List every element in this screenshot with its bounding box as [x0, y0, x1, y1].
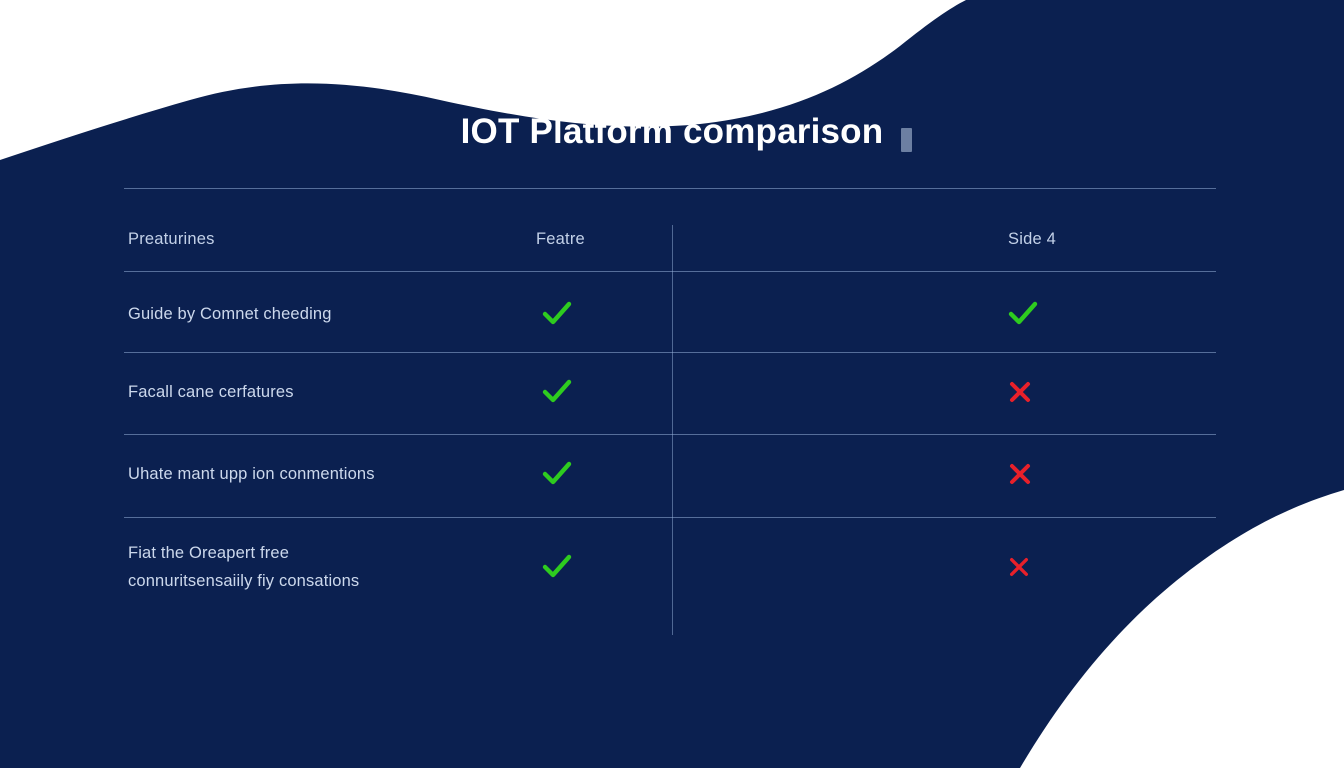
row-cell-col2	[484, 554, 850, 580]
column-header-side: Side 4	[850, 230, 1216, 249]
cross-icon	[1008, 380, 1032, 404]
table-row: Fiat the Oreapert free connuritsensaiily…	[124, 533, 1216, 601]
check-icon	[542, 554, 572, 580]
table-header-row: Preaturines Featre Side 4	[124, 218, 1216, 260]
row-label-line1: Guide by Comnet cheeding	[128, 305, 332, 323]
cross-icon	[1008, 556, 1030, 578]
table-rule-top	[124, 188, 1216, 189]
table-rule-header	[124, 271, 1216, 272]
check-icon	[1008, 301, 1038, 327]
row-cell-col3	[850, 462, 1216, 486]
table-rule-1	[124, 352, 1216, 353]
row-cell-col2	[484, 301, 850, 327]
row-label-line1: Uhate mant upp ion conmentions	[128, 465, 375, 483]
table-row: Uhate mant upp ion conmentions	[124, 450, 1216, 498]
row-cell-col2	[484, 461, 850, 487]
comparison-table: Preaturines Featre Side 4 Guide by Comne…	[124, 188, 1216, 635]
title-cursor-artifact	[901, 128, 912, 152]
row-label-line2: connuritsensaiily fiy consations	[128, 567, 484, 595]
slide-canvas: IOT Platform comparison Preaturines Feat…	[0, 0, 1344, 768]
table-rule-3	[124, 517, 1216, 518]
column-header-feature: Featre	[484, 230, 850, 249]
cross-icon	[1008, 462, 1032, 486]
table-rule-2	[124, 434, 1216, 435]
row-label-line1: Facall cane cerfatures	[128, 383, 294, 401]
row-label: Guide by Comnet cheeding	[124, 300, 484, 328]
row-cell-col2	[484, 379, 850, 405]
check-icon	[542, 379, 572, 405]
page-title: IOT Platform comparison	[0, 112, 1344, 152]
column-header-features: Preaturines	[124, 225, 484, 253]
row-label-line1: Fiat the Oreapert free	[128, 539, 484, 567]
table-row: Guide by Comnet cheeding	[124, 290, 1216, 338]
row-label: Fiat the Oreapert free connuritsensaiily…	[124, 539, 484, 595]
row-label: Uhate mant upp ion conmentions	[124, 460, 484, 488]
row-cell-col3	[850, 380, 1216, 404]
check-icon	[542, 461, 572, 487]
table-row: Facall cane cerfatures	[124, 368, 1216, 416]
row-cell-col3	[850, 556, 1216, 578]
row-label: Facall cane cerfatures	[124, 378, 484, 406]
row-cell-col3	[850, 301, 1216, 327]
check-icon	[542, 301, 572, 327]
